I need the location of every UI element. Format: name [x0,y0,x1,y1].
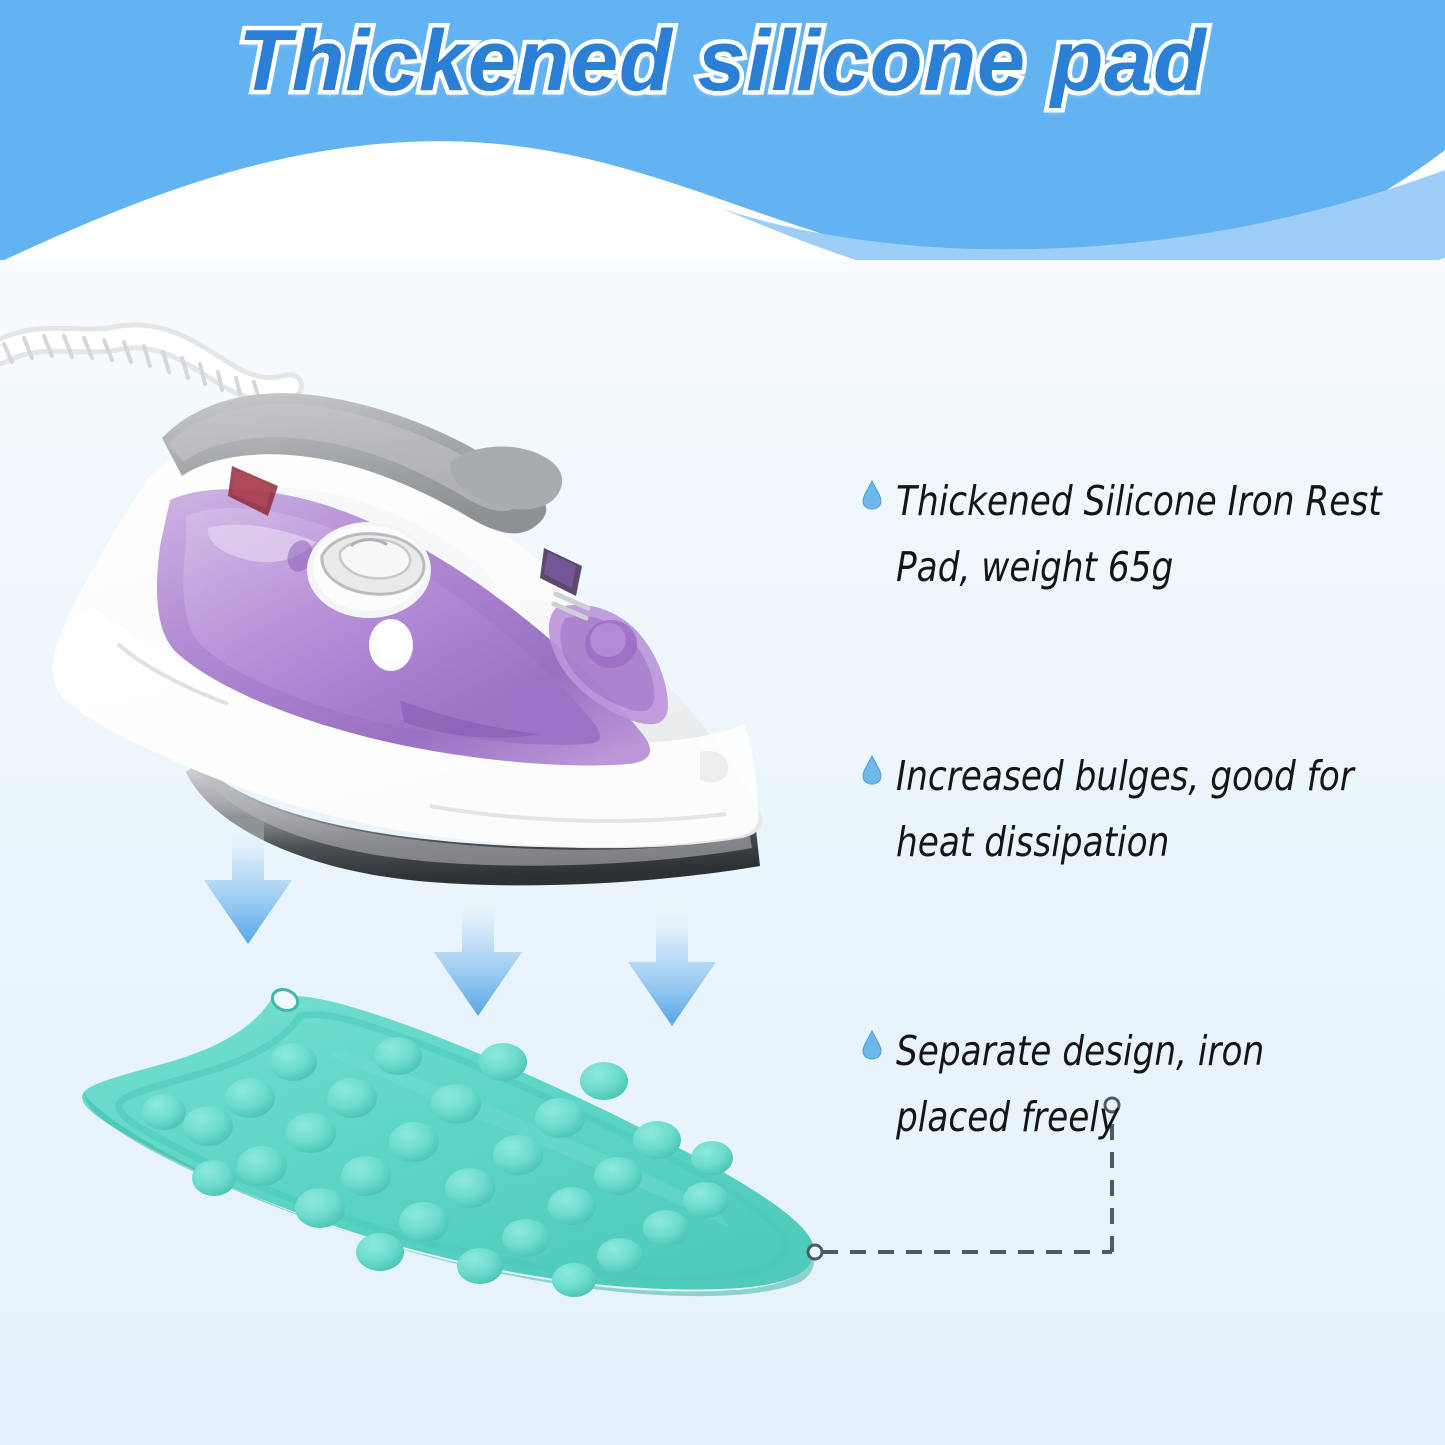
feature-text-2: Increased bulges, good for heat dissipat… [896,743,1354,876]
callout-endpoint-left [808,1245,822,1259]
product-infographic: Thickened silicone pad Thickened silicon… [0,0,1445,1445]
iron-drop-bullet-icon [862,1030,882,1060]
iron-drop-bullet-icon [862,755,882,785]
feature-text-1: Thickened Silicone Iron Rest Pad, weight… [896,468,1382,601]
feature-item-2: Increased bulges, good for heat dissipat… [862,743,1422,876]
feature-list: Thickened Silicone Iron Rest Pad, weight… [862,468,1422,1292]
feature-item-3: Separate design, iron placed freely [862,1018,1422,1151]
feature-text-3: Separate design, iron placed freely [896,1018,1264,1151]
iron-drop-bullet-icon [862,480,882,510]
feature-item-1: Thickened Silicone Iron Rest Pad, weight… [862,468,1422,601]
